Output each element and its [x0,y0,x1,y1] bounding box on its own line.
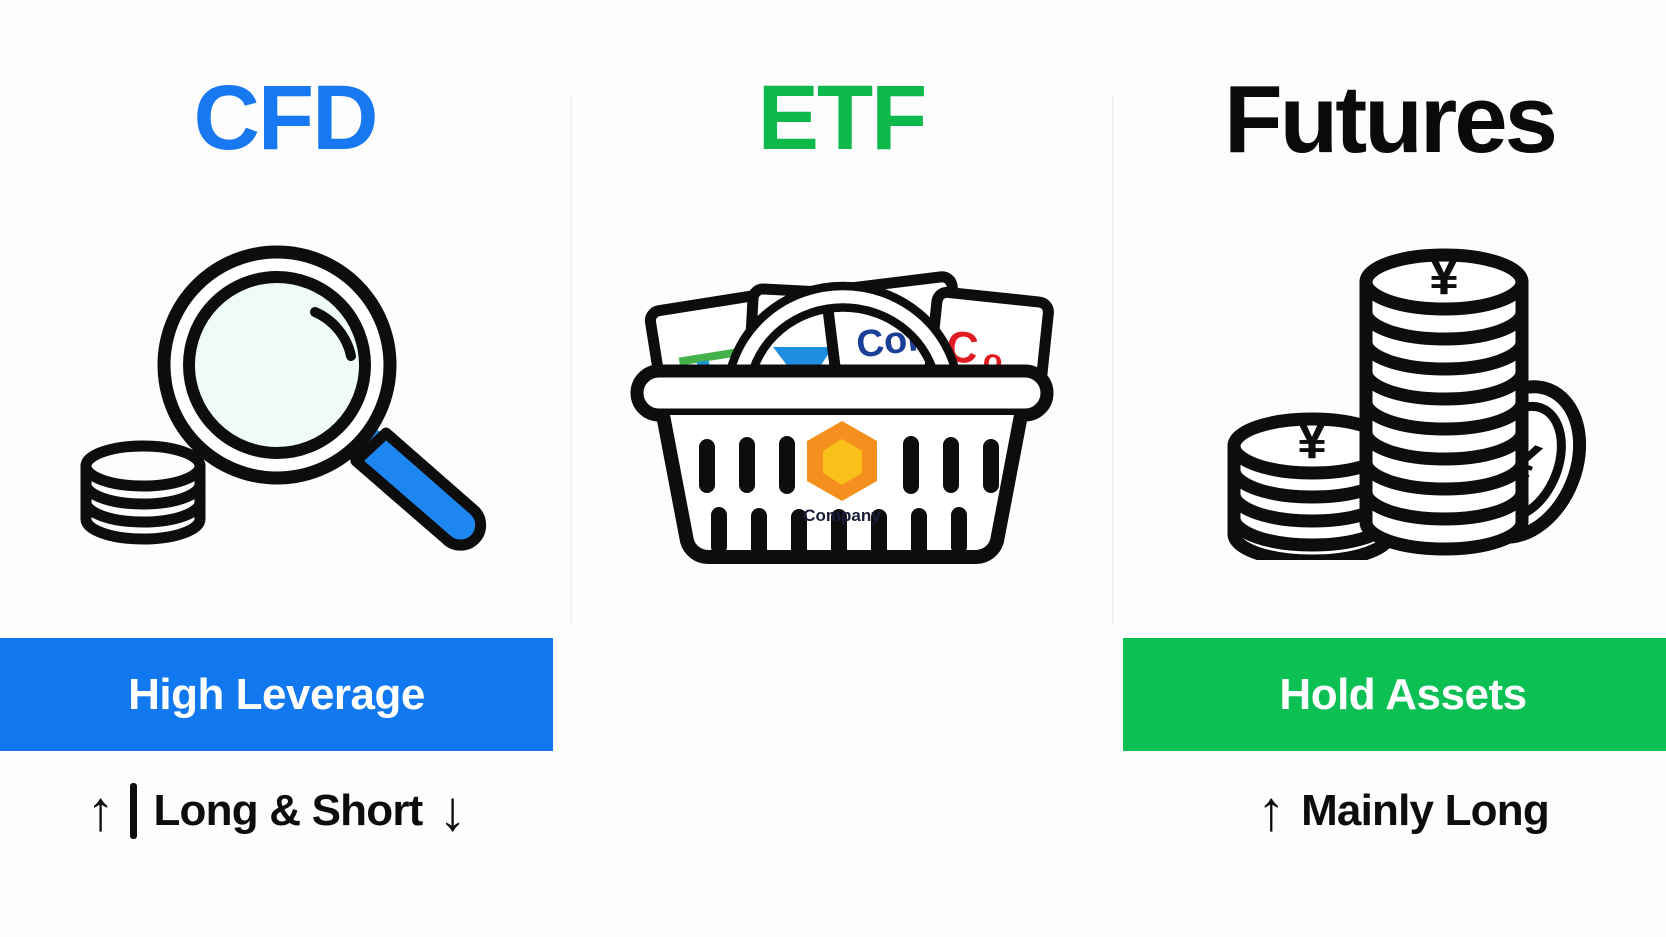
illustration-shopping-basket: Cond C o [570,200,1113,590]
company-logo-label: Company [803,506,881,525]
coin-stack-icon [86,446,200,539]
coin-stacks-icon: ¥ ¥ [1190,230,1590,560]
column-title-cfd: CFD [0,72,570,164]
banner-cfd: High Leverage [0,638,553,751]
illustration-yen-coin-stacks: ¥ ¥ [1113,200,1666,590]
vertical-bar-icon [130,783,137,839]
yen-symbol: ¥ [1296,410,1326,470]
comparison-infographic: CFD [0,0,1666,937]
yen-symbol: ¥ [1428,246,1458,306]
illustration-magnifier-and-coins [0,200,570,590]
basket-rim [637,371,1047,415]
shopping-basket-icon: Cond C o [627,225,1057,565]
banner-label-cfd: High Leverage [128,670,425,720]
footer-label-cfd: Long & Short [153,786,422,836]
up-arrow-icon: ↑ [86,783,114,839]
down-arrow-icon: ↓ [439,783,467,839]
column-etf: ETF [570,0,1113,937]
column-cfd: CFD [0,0,570,937]
column-title-futures: Futures [1113,72,1666,168]
magnifier-lens [189,277,365,453]
magnifier-icon [75,230,495,560]
column-futures: Futures ¥ ¥ [1113,0,1666,937]
footer-cfd: ↑ Long & Short ↓ [0,751,553,871]
column-title-etf: ETF [570,72,1113,164]
